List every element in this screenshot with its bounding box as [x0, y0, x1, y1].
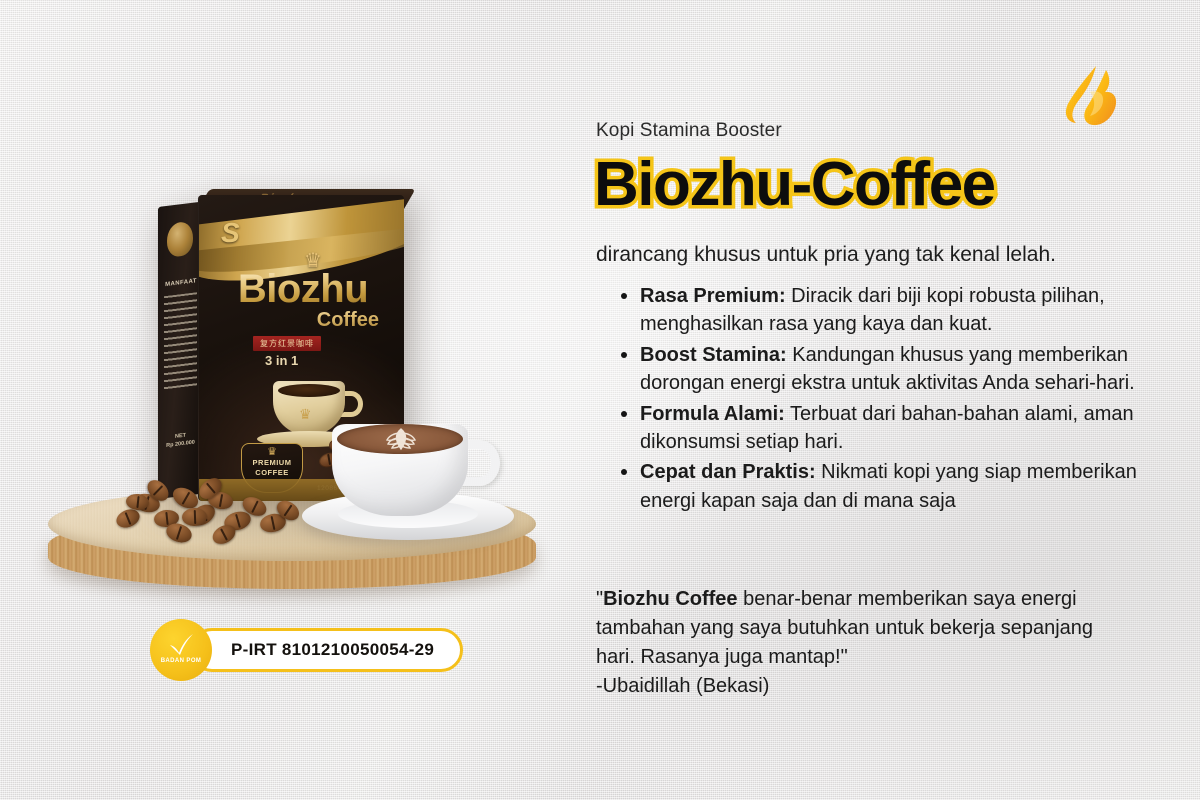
bpom-seal-circle: BADAN POM [150, 619, 212, 681]
page-title: Biozhu-Coffee [594, 152, 995, 217]
box-s-logo-icon: S [221, 219, 240, 247]
testimonial-quote: "Biozhu Coffee benar-benar memberikan sa… [596, 585, 1136, 701]
testimonial-brand-name: Biozhu Coffee [603, 588, 737, 610]
box-variant-label: 3 in 1 [265, 353, 298, 368]
list-item: Formula Alami: Terbuat dari bahan-bahan … [614, 400, 1149, 457]
benefit-term: Cepat dan Praktis: [640, 461, 816, 483]
eyebrow-text: Kopi Stamina Booster [596, 120, 782, 142]
advertisement-canvas: MANFAAT NET Rp 200.000 Biozhu S ♛ Biozhu… [0, 0, 1200, 800]
box-gold-seal-icon [167, 221, 193, 258]
marketing-copy-column: Kopi Stamina Booster Biozhu-Coffee diran… [596, 0, 1156, 800]
box-net-label: NET [175, 433, 186, 440]
swoosh-s-logo-icon [1056, 62, 1128, 134]
box-premium-line-2: COFFEE [242, 468, 302, 478]
box-premium-crown-icon: ♛ [242, 447, 302, 458]
benefit-list: Rasa Premium: Diracik dari biji kopi rob… [614, 282, 1149, 517]
box-cup-crown-icon: ♛ [299, 407, 312, 421]
benefit-term: Boost Stamina: [640, 344, 787, 366]
tagline-text: dirancang khusus untuk pria yang tak ken… [596, 241, 1141, 268]
bpom-code-text: P-IRT 8101210050054-29 [231, 640, 434, 660]
check-mark-icon [166, 633, 196, 657]
testimonial-author: -Ubaidillah (Bekasi) [596, 672, 1136, 701]
box-premium-line-1: PREMIUM [242, 458, 302, 468]
box-brand-name: Biozhu [215, 269, 391, 309]
box-net-weight: NET Rp 200.000 [164, 430, 197, 451]
bpom-certification-badge: BADAN POM P-IRT 8101210050054-29 [150, 619, 463, 681]
bpom-seal-label: BADAN POM [161, 658, 202, 664]
box-side-heading: MANFAAT [165, 278, 197, 288]
box-brand-subtitle: Coffee [215, 309, 391, 332]
list-item: Cepat dan Praktis: Nikmati kopi yang sia… [614, 458, 1149, 515]
list-item: Boost Stamina: Kandungan khusus yang mem… [614, 341, 1149, 398]
box-chinese-banner: 复方红景咖啡 [253, 336, 321, 351]
product-photo-scene: MANFAAT NET Rp 200.000 Biozhu S ♛ Biozhu… [0, 0, 580, 800]
benefit-term: Formula Alami: [640, 403, 785, 425]
box-cup-coffee-surface [278, 384, 340, 397]
bpom-code-pill: P-IRT 8101210050054-29 [190, 628, 463, 672]
benefit-term: Rasa Premium: [640, 285, 786, 307]
box-net-value: Rp 200.000 [166, 440, 195, 450]
list-item: Rasa Premium: Diracik dari biji kopi rob… [614, 282, 1149, 339]
box-side-panel: MANFAAT NET Rp 200.000 [158, 202, 202, 499]
coffee-beans-pile [112, 480, 312, 546]
box-side-text-lines [164, 292, 197, 392]
latte-art-rosetta-icon [362, 426, 440, 452]
